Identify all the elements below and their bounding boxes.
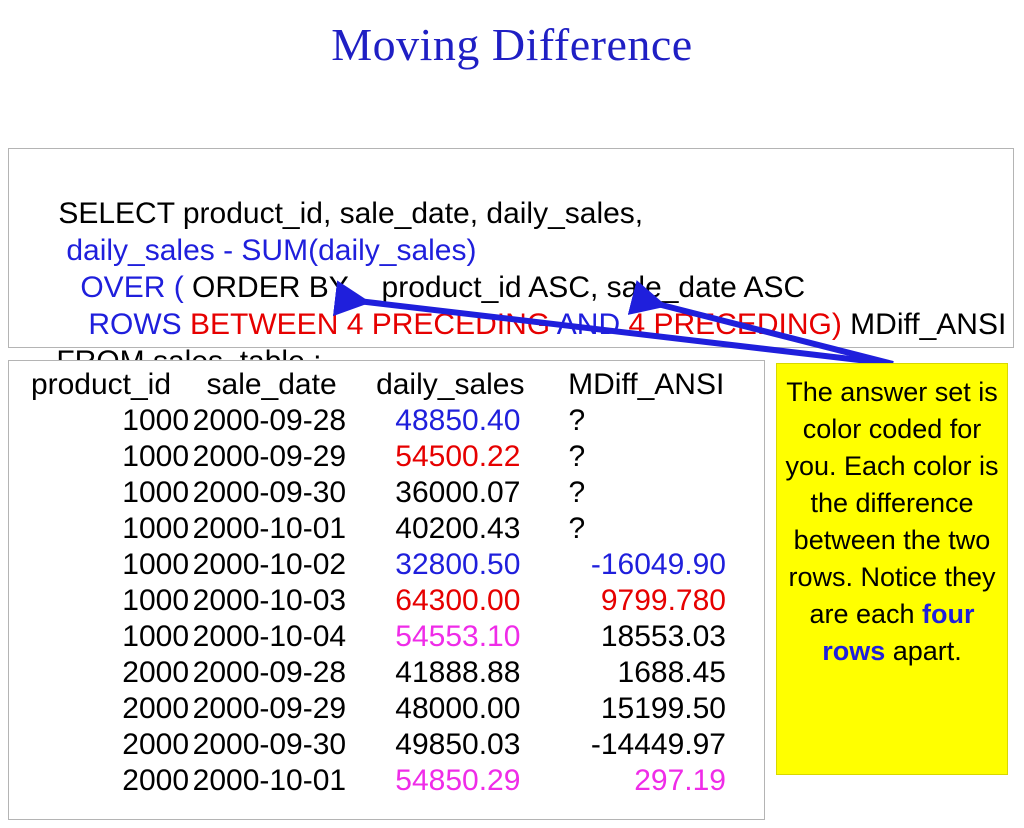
cell-daily-sales: 54500.22 — [354, 439, 546, 475]
cell-sale-date: 2000-09-30 — [189, 475, 354, 511]
sql-segment-preceding-close: 4 PRECEDING) — [628, 308, 841, 341]
table-row: 20002000-09-3049850.03-14449.97 — [9, 727, 764, 763]
cell-mdiff-ansi: -16049.90 — [546, 547, 764, 583]
cell-product-id: 1000 — [9, 511, 189, 547]
cell-daily-sales: 48850.40 — [354, 403, 546, 439]
table-row: 20002000-09-2841888.881688.45 — [9, 655, 764, 691]
note-text-part2: apart. — [885, 636, 962, 666]
sql-segment-and: AND — [557, 308, 629, 341]
cell-mdiff-unknown: ? — [546, 403, 764, 439]
column-header-product-id: product_id — [9, 367, 189, 403]
cell-product-id: 1000 — [9, 619, 189, 655]
result-set-box: product_id sale_date daily_sales MDiff_A… — [8, 360, 765, 820]
table-row: 10002000-10-0232800.50-16049.90 — [9, 547, 764, 583]
sql-statement-box: SELECT product_id, sale_date, daily_sale… — [8, 148, 1014, 348]
table-row: 10002000-10-0364300.009799.780 — [9, 583, 764, 619]
cell-mdiff-ansi: 9799.780 — [546, 583, 764, 619]
cell-product-id: 2000 — [9, 691, 189, 727]
result-table: product_id sale_date daily_sales MDiff_A… — [9, 367, 764, 799]
cell-daily-sales: 40200.43 — [354, 511, 546, 547]
callout-note: The answer set is color coded for you. E… — [776, 363, 1008, 775]
cell-daily-sales: 49850.03 — [354, 727, 546, 763]
cell-sale-date: 2000-09-28 — [189, 403, 354, 439]
cell-sale-date: 2000-09-29 — [189, 691, 354, 727]
page-title: Moving Difference — [0, 16, 1024, 74]
cell-product-id: 1000 — [9, 439, 189, 475]
cell-sale-date: 2000-09-30 — [189, 727, 354, 763]
column-header-mdiff-ansi: MDiff_ANSI — [546, 367, 764, 403]
cell-product-id: 2000 — [9, 763, 189, 799]
cell-sale-date: 2000-10-04 — [189, 619, 354, 655]
table-row: 20002000-10-0154850.29297.19 — [9, 763, 764, 799]
table-row: 10002000-09-3036000.07? — [9, 475, 764, 511]
cell-daily-sales: 41888.88 — [354, 655, 546, 691]
cell-product-id: 1000 — [9, 403, 189, 439]
table-row: 10002000-10-0454553.1018553.03 — [9, 619, 764, 655]
cell-daily-sales: 32800.50 — [354, 547, 546, 583]
cell-sale-date: 2000-09-29 — [189, 439, 354, 475]
cell-sale-date: 2000-09-28 — [189, 655, 354, 691]
note-text-part1: The answer set is color coded for you. E… — [785, 377, 998, 629]
cell-daily-sales: 36000.07 — [354, 475, 546, 511]
cell-mdiff-ansi: 18553.03 — [546, 619, 764, 655]
table-row: 10002000-09-2848850.40? — [9, 403, 764, 439]
cell-mdiff-ansi: 1688.45 — [546, 655, 764, 691]
cell-mdiff-unknown: ? — [546, 439, 764, 475]
cell-sale-date: 2000-10-01 — [189, 763, 354, 799]
cell-product-id: 1000 — [9, 475, 189, 511]
cell-daily-sales: 48000.00 — [354, 691, 546, 727]
cell-daily-sales: 64300.00 — [354, 583, 546, 619]
cell-mdiff-ansi: 15199.50 — [546, 691, 764, 727]
cell-product-id: 1000 — [9, 547, 189, 583]
result-table-body: 10002000-09-2848850.40?10002000-09-29545… — [9, 403, 764, 799]
cell-mdiff-ansi: -14449.97 — [546, 727, 764, 763]
table-row: 10002000-10-0140200.43? — [9, 511, 764, 547]
sql-segment-alias: MDiff_ANSI — [842, 308, 1007, 341]
table-row: 10002000-09-2954500.22? — [9, 439, 764, 475]
cell-sale-date: 2000-10-03 — [189, 583, 354, 619]
cell-mdiff-ansi: 297.19 — [546, 763, 764, 799]
table-header-row: product_id sale_date daily_sales MDiff_A… — [9, 367, 764, 403]
cell-product-id: 2000 — [9, 727, 189, 763]
cell-product-id: 2000 — [9, 655, 189, 691]
column-header-daily-sales: daily_sales — [354, 367, 546, 403]
column-header-sale-date: sale_date — [189, 367, 354, 403]
cell-sale-date: 2000-10-01 — [189, 511, 354, 547]
cell-product-id: 1000 — [9, 583, 189, 619]
cell-daily-sales: 54850.29 — [354, 763, 546, 799]
cell-mdiff-unknown: ? — [546, 511, 764, 547]
cell-sale-date: 2000-10-02 — [189, 547, 354, 583]
table-row: 20002000-09-2948000.0015199.50 — [9, 691, 764, 727]
cell-daily-sales: 54553.10 — [354, 619, 546, 655]
cell-mdiff-unknown: ? — [546, 475, 764, 511]
